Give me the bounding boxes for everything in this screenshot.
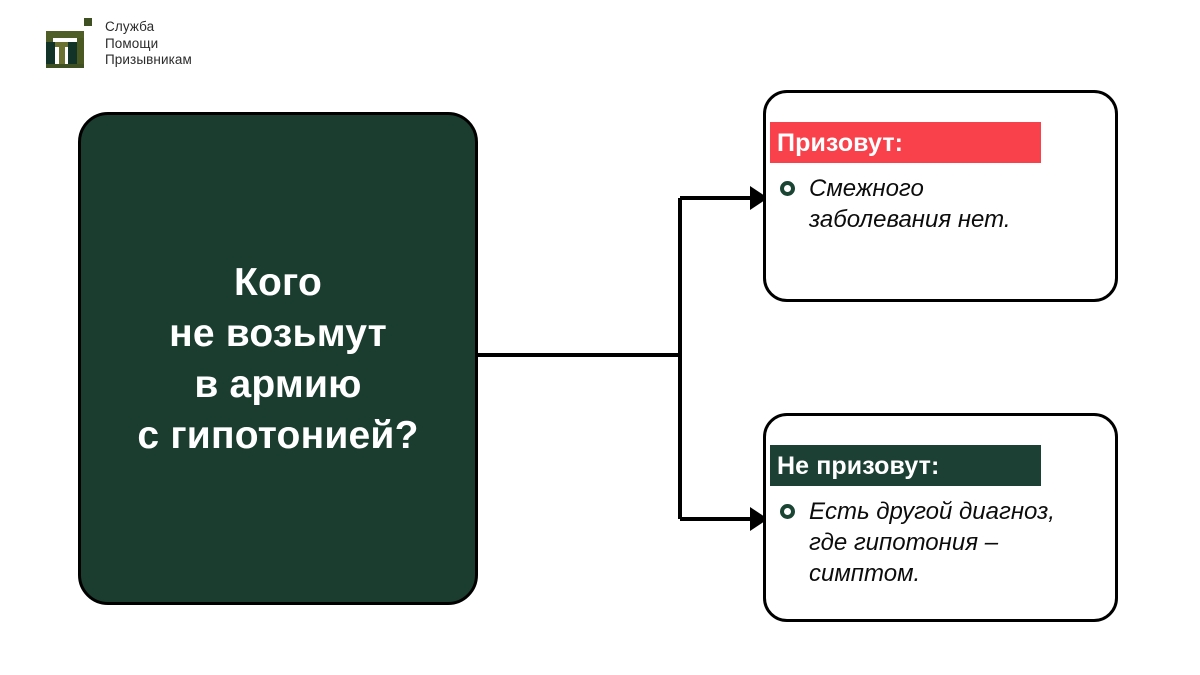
answer-card-called: Призовут: Смежного заболевания нет. [763, 90, 1118, 302]
answer-card-not-called: Не призовут: Есть другой диагноз, где ги… [763, 413, 1118, 622]
brand-logo-text: Служба Помощи Призывникам [105, 19, 192, 69]
answer-card-called-header: Призовут: [770, 122, 1041, 163]
sps-building-logo-icon [44, 18, 92, 68]
brand-logo-line-2: Помощи [105, 36, 192, 53]
ring-bullet-icon [780, 504, 795, 519]
brand-logo-line-3: Призывникам [105, 52, 192, 69]
answer-card-called-body: Смежного заболевания нет. [780, 173, 1105, 235]
slide-canvas: Служба Помощи Призывникам Кого не возьму… [0, 0, 1200, 675]
brand-logo-line-1: Служба [105, 19, 192, 36]
answer-card-not-called-header-label: Не призовут: [777, 453, 939, 479]
answer-card-called-bullet-text: Смежного заболевания нет. [809, 173, 1011, 235]
question-text: Кого не возьмут в армию с гипотонией? [127, 257, 428, 461]
ring-bullet-icon [780, 181, 795, 196]
question-box: Кого не возьмут в армию с гипотонией? [78, 112, 478, 605]
brand-logo: Служба Помощи Призывникам [44, 18, 192, 69]
answer-card-called-header-label: Призовут: [777, 130, 903, 156]
answer-card-not-called-header: Не призовут: [770, 445, 1041, 486]
answer-card-not-called-body: Есть другой диагноз, где гипотония – сим… [780, 496, 1105, 589]
answer-card-not-called-bullet-text: Есть другой диагноз, где гипотония – сим… [809, 496, 1055, 589]
